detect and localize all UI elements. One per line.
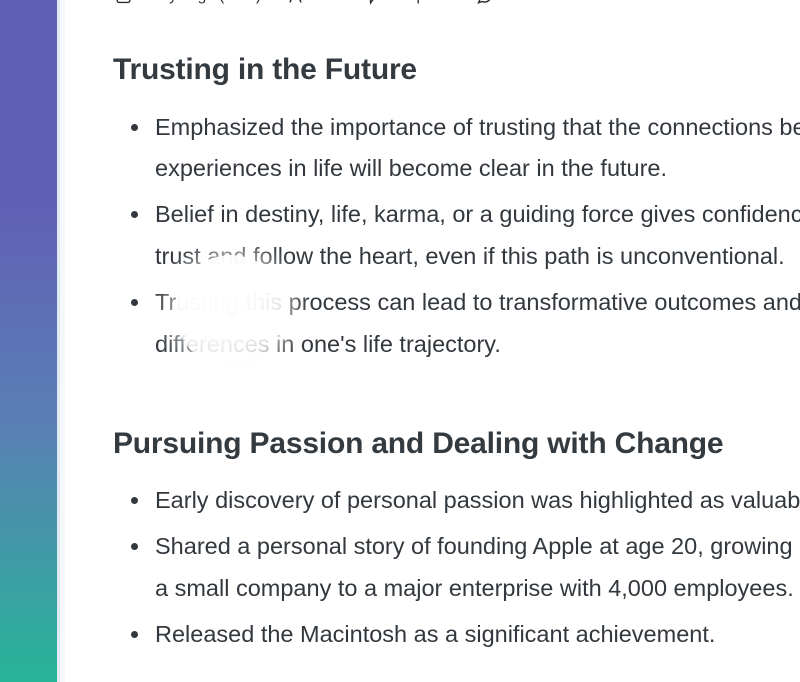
list-item: Trusting this process can lead to transf…: [113, 282, 800, 366]
document-body: Trusting in the Future Emphasized the im…: [113, 44, 800, 659]
meta-label-chat: Chat: [500, 0, 533, 5]
meta-label-author: You: [311, 0, 337, 5]
document-meta-bar: 4 days ago (Wed) You Template: [115, 0, 533, 5]
calendar-icon: [115, 0, 132, 5]
template-icon: [363, 0, 380, 5]
document-surface: 4 days ago (Wed) You Template: [65, 0, 800, 682]
bullet-list-pursuing-passion: Early discovery of personal passion was …: [113, 480, 800, 655]
sidebar-gradient-rail: [0, 0, 57, 682]
list-item: Released the Macintosh as a significant …: [113, 614, 800, 656]
list-item: Shared a personal story of founding Appl…: [113, 526, 800, 610]
bullet-list-trusting-in-the-future: Emphasized the importance of trusting th…: [113, 107, 800, 366]
meta-item-template[interactable]: Template: [363, 0, 450, 5]
chat-bubble-icon: [476, 0, 493, 5]
meta-item-author[interactable]: You: [287, 0, 337, 5]
screenshot-root: 4 days ago (Wed) You Template: [0, 0, 800, 682]
meta-label-date: 4 days ago (Wed): [139, 0, 261, 5]
list-item: Early discovery of personal passion was …: [113, 480, 800, 522]
list-item: Emphasized the importance of trusting th…: [113, 107, 800, 191]
section-heading-pursuing-passion-and-dealing-with-change: Pursuing Passion and Dealing with Change: [113, 426, 800, 463]
meta-item-chat[interactable]: Chat: [476, 0, 533, 5]
person-icon: [287, 0, 304, 5]
meta-item-date[interactable]: 4 days ago (Wed): [115, 0, 261, 5]
section-heading-trusting-in-the-future: Trusting in the Future: [113, 52, 800, 89]
meta-label-template: Template: [387, 0, 450, 5]
list-item: Belief in destiny, life, karma, or a gui…: [113, 194, 800, 278]
